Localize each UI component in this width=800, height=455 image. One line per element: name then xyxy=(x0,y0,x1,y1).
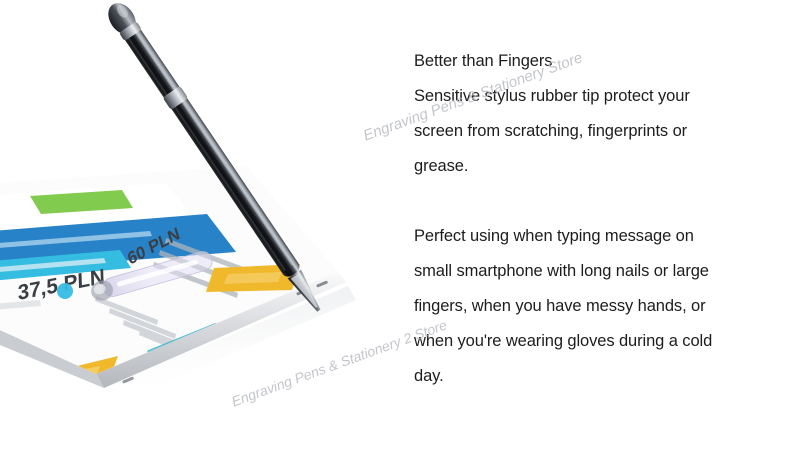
paragraph-2-line-4: when you're wearing gloves during a cold xyxy=(414,324,786,359)
product-photo: 37,5 PLN xyxy=(0,0,400,430)
paragraph-2-line-5: day. xyxy=(414,359,786,394)
paragraph-2-line-3: fingers, when you have messy hands, or xyxy=(414,289,786,324)
paragraph-1-line-2: screen from scratching, fingerprints or xyxy=(414,114,786,149)
headline: Better than Fingers xyxy=(414,44,786,79)
product-detail-image: 37,5 PLN xyxy=(0,0,800,455)
paragraph-2-line-2: small smartphone with long nails or larg… xyxy=(414,254,786,289)
paragraph-spacer xyxy=(414,184,786,219)
marketing-copy: Better than Fingers Sensitive stylus rub… xyxy=(414,44,786,394)
paragraph-1-line-3: grease. xyxy=(414,149,786,184)
paragraph-1: Sensitive stylus rubber tip protect your… xyxy=(414,79,786,184)
paragraph-2: Perfect using when typing message on sma… xyxy=(414,219,786,394)
paragraph-2-line-1: Perfect using when typing message on xyxy=(414,219,786,254)
product-photo-illustration: 37,5 PLN xyxy=(0,0,400,430)
paragraph-1-line-1: Sensitive stylus rubber tip protect your xyxy=(414,79,786,114)
